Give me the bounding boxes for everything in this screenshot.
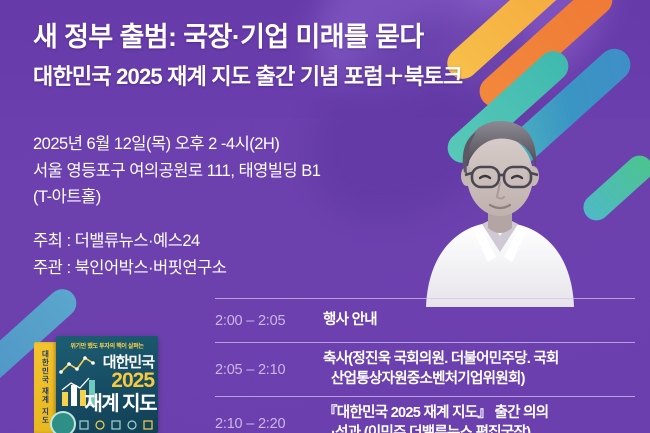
schedule-description: 행사 안내 (323, 311, 635, 331)
details-spacer (33, 211, 320, 228)
book-title-line-3: 재계 지도 (84, 394, 156, 414)
page-title: 새 정부 출범: 국장·기업 미래를 묻다 (33, 22, 462, 54)
book-spine-text: 대한민국 재계 지도 (40, 350, 51, 424)
schedule-time: 2:10 – 2:20 (215, 416, 323, 432)
table-row: 2:10 – 2:20 『대한민국 2025 재계 지도』 출간 의의 ·성과 … (215, 396, 635, 433)
book-cover: 대한민국 재계 지도 위기만 했도 투자의 핵이 살펴는 대한민국 2025 재… (34, 336, 158, 433)
schedule-description-line-1: 축사(정진욱 국회의원. 더불어민주당. 국회 (323, 351, 559, 367)
event-address-line-1: 서울 영등포구 여의공원로 111, 태영빌딩 B1 (33, 158, 320, 185)
event-organizer: 주관 : 북인어박스·버핏연구소 (33, 255, 320, 282)
table-row: 2:05 – 2:10 축사(정진욱 국회의원. 더불어민주당. 국회 산업통상… (215, 342, 635, 396)
event-datetime: 2025년 6월 12일(목) 오후 2 -4시(2H) (33, 131, 320, 158)
event-address-line-2: (T-아트홀) (33, 184, 320, 211)
schedule-table: 2:00 – 2:05 행사 안내 2:05 – 2:10 축사(정진욱 국회의… (215, 298, 635, 433)
schedule-time: 2:05 – 2:10 (215, 362, 323, 378)
event-host: 주최 : 더밸류뉴스·예스24 (33, 228, 320, 255)
event-details: 2025년 6월 12일(목) 오후 2 -4시(2H) 서울 영등포구 여의공… (33, 131, 320, 282)
schedule-description: 축사(정진욱 국회의원. 더불어민주당. 국회 산업통상자원중소벤처기업위원회) (323, 350, 635, 389)
event-poster: 새 정부 출범: 국장·기업 미래를 묻다 대한민국 2025 재계 지도 출간… (0, 0, 650, 433)
schedule-description-line-1: 『대한민국 2025 재계 지도』 출간 의의 (323, 405, 548, 421)
title-block: 새 정부 출범: 국장·기업 미래를 묻다 대한민국 2025 재계 지도 출간… (33, 22, 462, 90)
schedule-description-line-2: 산업통상자원중소벤처기업위원회) (323, 370, 635, 390)
speaker-portrait (420, 112, 600, 307)
schedule-description: 『대한민국 2025 재계 지도』 출간 의의 ·성과 (이민주 더밸류뉴스 편… (323, 404, 635, 433)
schedule-time: 2:00 – 2:05 (215, 313, 323, 329)
table-row: 2:00 – 2:05 행사 안내 (215, 298, 635, 342)
book-tagline: 위기만 했도 투자의 핵이 살펴는 (56, 341, 158, 350)
speaker-portrait-illustration (420, 112, 600, 307)
schedule-description-line-1: 행사 안내 (323, 312, 377, 328)
page-subtitle: 대한민국 2025 재계 지도 출간 기념 포럼＋북토크 (33, 64, 462, 90)
book-title-line-2: 2025 (111, 370, 154, 391)
schedule-description-line-2: ·성과 (이민주 더밸류뉴스 편집국장) (323, 424, 635, 433)
book-seal-badge (50, 411, 76, 433)
